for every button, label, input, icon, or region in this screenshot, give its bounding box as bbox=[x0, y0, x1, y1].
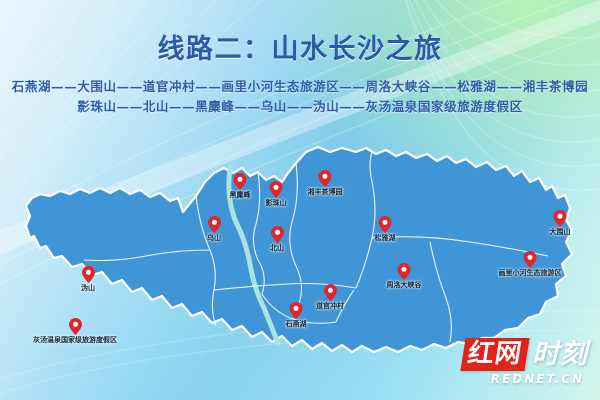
map-marker-zhouluodaxiagu[interactable]: 周洛大峡谷 bbox=[387, 263, 422, 290]
map-marker-wushan[interactable]: 乌山 bbox=[207, 216, 221, 243]
header: 线路二：山水长沙之旅 石燕湖——大围山——道官冲村——画里小河生态旅游区——周洛… bbox=[0, 34, 600, 117]
map-marker-label: 湘丰茶博园 bbox=[308, 187, 343, 197]
map-marker-label: 北山 bbox=[270, 243, 284, 253]
map-marker-label: 沩山 bbox=[81, 283, 95, 293]
map-pin-icon bbox=[379, 216, 392, 233]
map-marker-label: 周洛大峡谷 bbox=[387, 280, 422, 290]
map-marker-xiangfengchabo[interactable]: 湘丰茶博园 bbox=[308, 170, 343, 197]
map-marker-label: 灰汤温泉国家级旅游度假区 bbox=[33, 335, 117, 345]
map-marker-beishan[interactable]: 北山 bbox=[270, 226, 284, 253]
map-marker-label: 画里小河生态旅游区 bbox=[499, 268, 562, 278]
map-marker-songyahu[interactable]: 松雅湖 bbox=[375, 216, 396, 243]
map-marker-label: 黑麋峰 bbox=[230, 190, 251, 200]
logo-domain: REDNET.CN bbox=[463, 372, 588, 386]
map-marker-hualixiaohe[interactable]: 画里小河生态旅游区 bbox=[499, 251, 562, 278]
logo-brand-red: 红网 bbox=[460, 338, 529, 371]
map-marker-label: 石燕湖 bbox=[286, 319, 307, 329]
rednet-logo[interactable]: 红网 时刻 REDNET.CN bbox=[463, 338, 588, 386]
infographic-page: { "header": { "title": "线路二：山水长沙之旅", "ro… bbox=[0, 0, 600, 400]
logo-wordmark: 红网 时刻 bbox=[463, 338, 588, 371]
map-marker-label: 乌山 bbox=[207, 233, 221, 243]
page-title: 线路二：山水长沙之旅 bbox=[0, 34, 600, 66]
map-pin-icon bbox=[524, 251, 537, 268]
map-marker-yingzhushan[interactable]: 影珠山 bbox=[266, 181, 287, 208]
route-line-2: 影珠山——北山——黑麋峰——乌山——沩山——灰汤温泉国家级旅游度假区 bbox=[0, 97, 600, 117]
logo-brand-white: 时刻 bbox=[532, 340, 588, 370]
map-pin-icon bbox=[554, 210, 567, 227]
map-marker-heimifeng[interactable]: 黑麋峰 bbox=[230, 173, 251, 200]
route-line-1: 石燕湖——大围山——道官冲村——画里小河生态旅游区——周洛大峡谷——松雅湖——湘… bbox=[0, 77, 600, 97]
map-marker-label: 松雅湖 bbox=[375, 233, 396, 243]
map-marker-label: 影珠山 bbox=[266, 198, 287, 208]
map-pin-icon bbox=[234, 173, 247, 190]
map-pin-icon bbox=[69, 318, 82, 335]
map-pin-icon bbox=[319, 170, 332, 187]
map-marker-daoguanchongcun[interactable]: 道官冲村 bbox=[316, 284, 344, 311]
map-pin-icon bbox=[324, 284, 337, 301]
map-marker-daweishan[interactable]: 大围山 bbox=[550, 210, 571, 237]
map-pin-icon bbox=[290, 302, 303, 319]
map-marker-label: 大围山 bbox=[550, 227, 571, 237]
map-pin-icon bbox=[208, 216, 221, 233]
map-pin-icon bbox=[271, 226, 284, 243]
map-marker-huitangwenquan[interactable]: 灰汤温泉国家级旅游度假区 bbox=[33, 318, 117, 345]
map-pin-icon bbox=[270, 181, 283, 198]
map-marker-shiyanhu[interactable]: 石燕湖 bbox=[286, 302, 307, 329]
map-pin-icon bbox=[398, 263, 411, 280]
map-marker-weishan[interactable]: 沩山 bbox=[81, 266, 95, 293]
route-subtitle: 石燕湖——大围山——道官冲村——画里小河生态旅游区——周洛大峡谷——松雅湖——湘… bbox=[0, 77, 600, 117]
map-pin-icon bbox=[82, 266, 95, 283]
map-marker-label: 道官冲村 bbox=[316, 301, 344, 311]
